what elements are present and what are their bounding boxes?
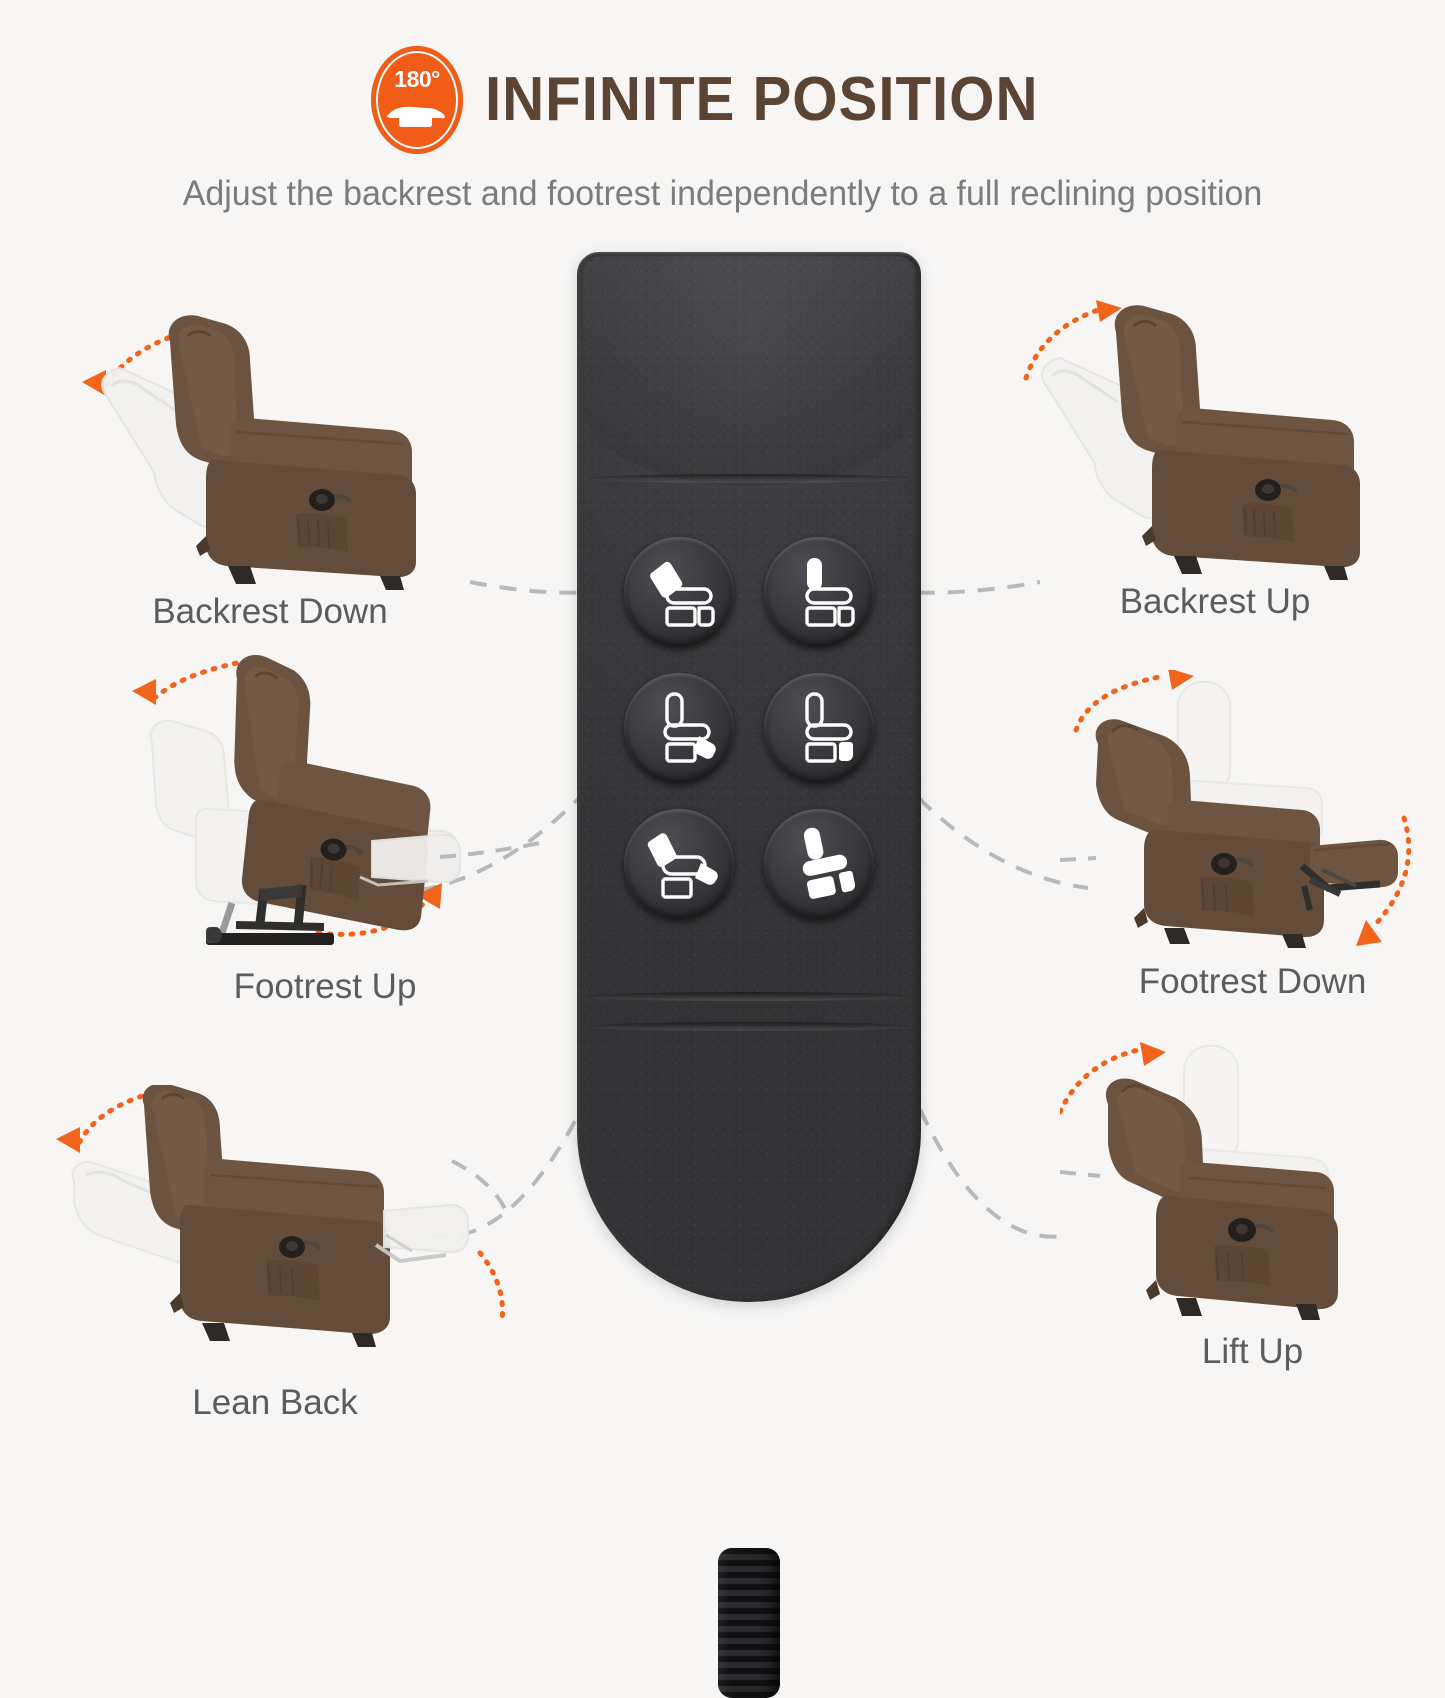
chair-illustration-footrest-up bbox=[110, 645, 540, 975]
recliner-brown bbox=[1115, 305, 1360, 580]
page-subtitle: Adjust the backrest and footrest indepen… bbox=[22, 174, 1424, 214]
panel-caption-footrest-down: Footrest Down bbox=[1060, 962, 1445, 1002]
page-title: INFINITE POSITION bbox=[485, 69, 1038, 131]
chair-illustration-lift-up bbox=[1060, 1040, 1445, 1350]
recliner-brown-lifted bbox=[211, 653, 446, 932]
remote-cable bbox=[718, 1548, 780, 1698]
motion-arrow-footrest-down-top bbox=[1076, 670, 1194, 730]
button-footrest-down[interactable] bbox=[764, 673, 874, 783]
button-keypad bbox=[621, 524, 877, 932]
recliner-brown-reclined bbox=[1096, 719, 1398, 948]
panel-caption-lift-up: Lift Up bbox=[1060, 1332, 1445, 1372]
recliner-brown bbox=[169, 315, 416, 590]
panel-caption-backrest-down: Backrest Down bbox=[60, 592, 480, 632]
panel-lean-back: Lean Back bbox=[40, 1085, 510, 1445]
panel-caption-lean-back: Lean Back bbox=[40, 1383, 510, 1423]
ghost-footrest bbox=[360, 835, 460, 885]
chair-backrest-down-icon bbox=[641, 556, 717, 628]
chair-footrest-up-icon bbox=[641, 692, 717, 764]
panel-lift-up: Lift Up bbox=[1060, 1040, 1445, 1420]
infographic-canvas: 180° INFINITE POSITION Adjust the backre… bbox=[0, 0, 1445, 1445]
chair-lift-up-icon bbox=[780, 827, 858, 901]
chair-lean-back-icon bbox=[639, 827, 719, 901]
chair-illustration-lean-back bbox=[40, 1085, 510, 1385]
180-degree-badge: 180° bbox=[371, 46, 463, 154]
button-backrest-up[interactable] bbox=[764, 537, 874, 647]
button-lean-back[interactable] bbox=[624, 809, 734, 919]
reclined-chair-silhouette-icon bbox=[386, 97, 448, 136]
panel-footrest-down: Footrest Down bbox=[1060, 670, 1445, 1020]
motion-arrow-lean-back bbox=[56, 1093, 152, 1153]
recliner-hand-control bbox=[577, 252, 921, 1302]
chair-illustration-backrest-down bbox=[60, 300, 480, 600]
title-row: 180° INFINITE POSITION bbox=[0, 0, 1445, 154]
button-footrest-up[interactable] bbox=[624, 673, 734, 783]
chair-illustration-backrest-up bbox=[1000, 290, 1430, 590]
panel-backrest-up: Backrest Up bbox=[1000, 290, 1430, 650]
ghost-footrest-extended bbox=[376, 1205, 468, 1261]
chair-illustration-footrest-down bbox=[1060, 670, 1445, 980]
button-backrest-down[interactable] bbox=[624, 537, 734, 647]
badge-degrees-label: 180° bbox=[394, 68, 440, 91]
chair-backrest-up-icon bbox=[781, 556, 857, 628]
panel-backrest-down: Backrest Down bbox=[60, 300, 480, 660]
chair-footrest-down-icon bbox=[781, 692, 857, 764]
panel-caption-backrest-up: Backrest Up bbox=[1000, 582, 1430, 622]
recliner-brown bbox=[143, 1085, 390, 1347]
panel-footrest-up: Footrest Up bbox=[110, 645, 540, 1025]
button-lift-up[interactable] bbox=[764, 809, 874, 919]
header: 180° INFINITE POSITION Adjust the backre… bbox=[0, 0, 1445, 214]
panel-caption-footrest-up: Footrest Up bbox=[110, 967, 540, 1007]
